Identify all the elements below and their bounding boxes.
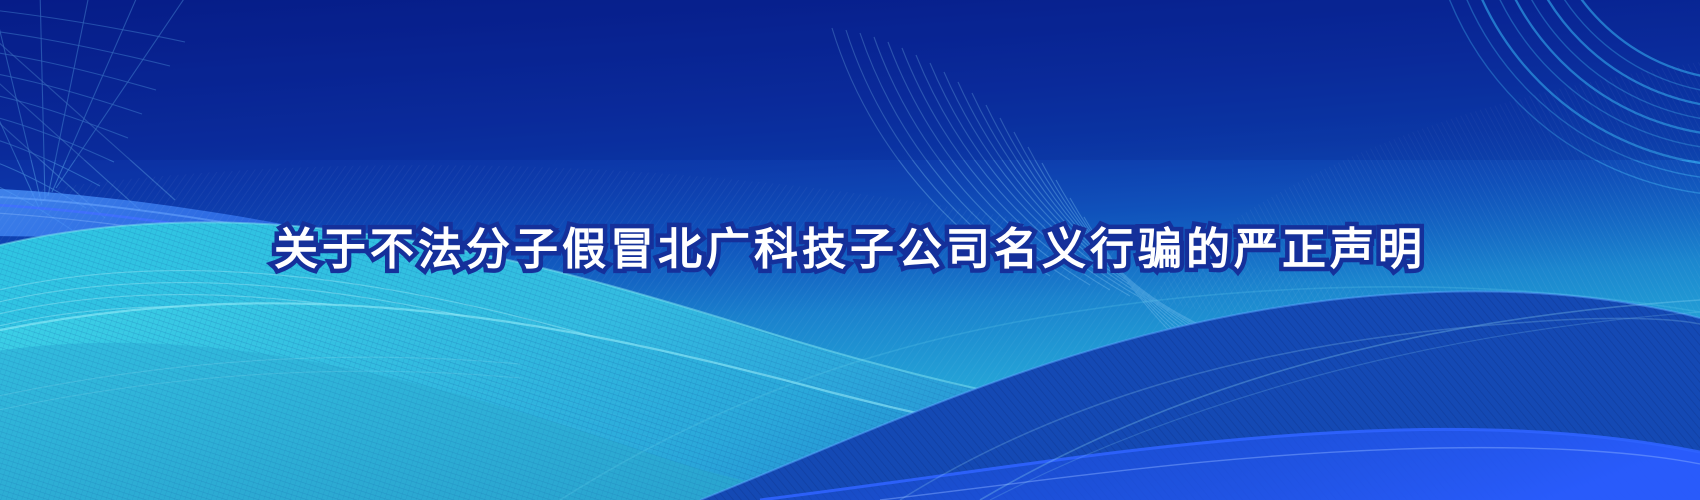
banner-background-graphic: [0, 0, 1700, 500]
announcement-banner: 关于不法分子假冒北广科技子公司名义行骗的严正声明: [0, 0, 1700, 500]
